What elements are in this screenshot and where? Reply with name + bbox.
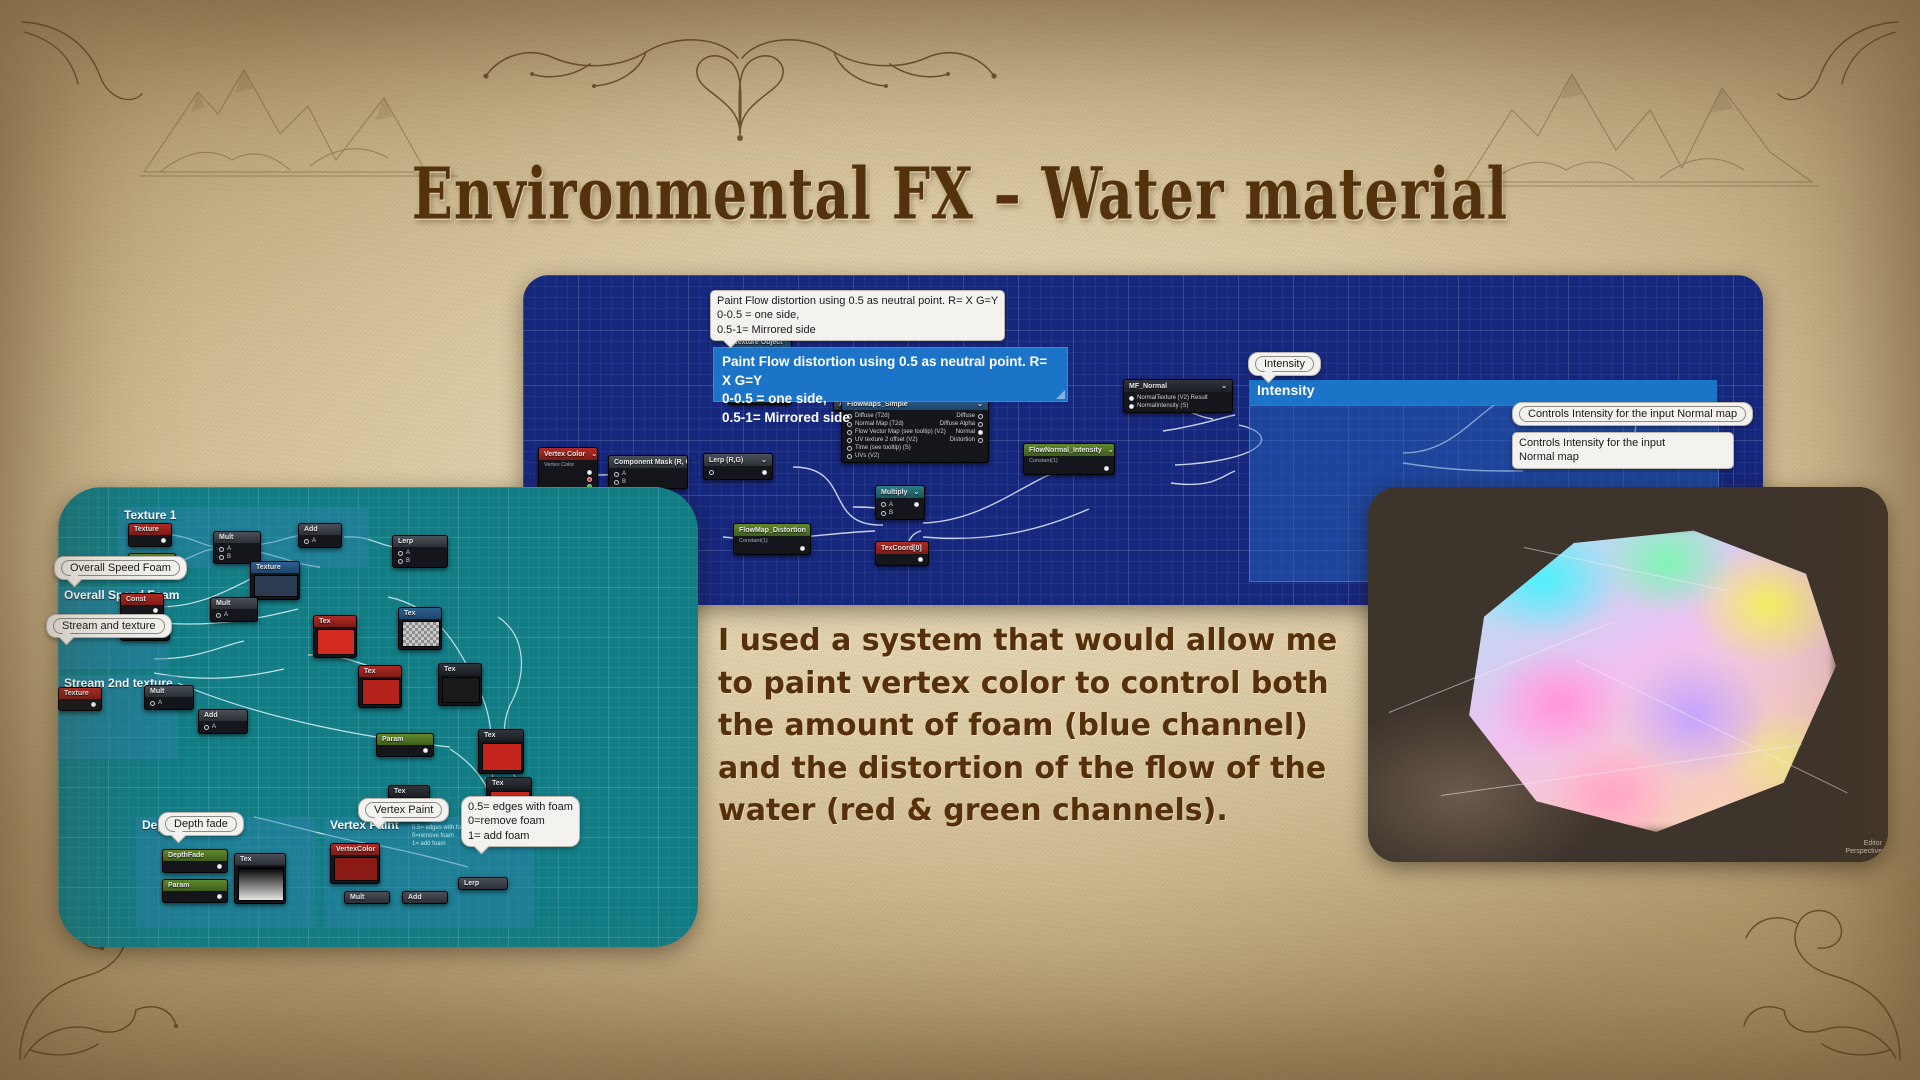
node-header: Mult	[214, 532, 260, 543]
node-pin-a[interactable]: A	[612, 470, 684, 478]
node-teal-vp-grey-1[interactable]: Mult	[344, 891, 390, 904]
node-texcoord[interactable]: TexCoord[0]⌄	[875, 541, 929, 566]
node-header: Tex	[359, 666, 401, 677]
node-body	[876, 554, 928, 565]
node-header: Component Mask (R, G)⌄	[609, 456, 687, 468]
node-teal-grey-4[interactable]: MultA	[210, 597, 258, 622]
node-teal-depth-preview[interactable]: Tex	[234, 853, 286, 904]
node-pin-b[interactable]: B	[879, 509, 921, 517]
node-teal-vertex-color-red[interactable]: VertexColor	[330, 843, 380, 884]
node-header: Texture	[251, 562, 299, 573]
node-header: Add	[199, 710, 247, 721]
node-teal-texture-red-1[interactable]: Texture	[128, 523, 172, 547]
node-lerp-rg[interactable]: Lerp (R,G)⌄	[703, 453, 773, 480]
node-pin-a[interactable]: A	[879, 500, 895, 509]
node-header: Lerp	[459, 878, 507, 889]
node-pin-distortion-out[interactable]: Distortion	[948, 436, 985, 444]
node-header: MF_Normal⌄	[1124, 380, 1232, 392]
node-header: Texture	[129, 524, 171, 535]
node-header: VertexColor	[331, 844, 379, 855]
node-teal-vp-grey-3[interactable]: Lerp	[458, 877, 508, 890]
node-header: Lerp	[393, 536, 447, 547]
node-teal-depth-green-2[interactable]: Param	[162, 879, 228, 903]
node-body: Constant(1)	[734, 536, 810, 554]
node-header: DepthFade	[163, 850, 227, 861]
node-teal-vp-grey-2[interactable]: Add	[402, 891, 448, 904]
node-mf-normal[interactable]: MF_Normal⌄ NormalTexture (V2) Result Nor…	[1123, 379, 1233, 413]
node-teal-grey-3[interactable]: LerpAB	[392, 535, 448, 568]
callout-intensity-pill: Intensity	[1248, 352, 1321, 376]
node-header: Tex	[399, 608, 441, 619]
node-teal-red-3[interactable]: Texture	[58, 687, 102, 711]
resize-handle-icon[interactable]	[1056, 390, 1065, 399]
callout-vertex-paint-values: 0.5= edges with foam 0=remove foam 1= ad…	[461, 796, 580, 847]
node-header: Mult	[145, 686, 193, 697]
node-header: Tex	[389, 786, 429, 797]
node-pin-normal-out[interactable]: Normal	[954, 428, 985, 436]
node-pin-r[interactable]	[542, 476, 594, 483]
node-body: NormalTexture (V2) Result NormalIntensit…	[1124, 392, 1232, 412]
callout-stream-and-texture: Stream and texture	[46, 614, 172, 638]
node-teal-tex-sample-1[interactable]: Texture	[250, 561, 300, 600]
node-multiply[interactable]: Multiply⌄ A B	[875, 485, 925, 520]
callout-depth-fade: Depth fade	[158, 812, 244, 836]
node-header: TexCoord[0]⌄	[876, 542, 928, 554]
node-header: Add	[299, 524, 341, 535]
node-header: Add	[403, 892, 447, 903]
node-pin-b[interactable]: B	[612, 478, 684, 486]
callout-paint-flow-tooltip: Paint Flow distortion using 0.5 as neutr…	[710, 290, 1005, 341]
node-pin-out[interactable]	[879, 556, 925, 563]
callout-overall-speed-foam: Overall Speed Foam	[54, 556, 187, 580]
node-pin-normalintensity[interactable]: NormalIntensity (S)	[1127, 402, 1229, 410]
node-teal-depth-green[interactable]: DepthFade	[162, 849, 228, 873]
node-flowmap-distortion[interactable]: FlowMap_Distortion⌄ Constant(1)	[733, 523, 811, 555]
node-teal-tex-red-3[interactable]: Tex	[478, 729, 524, 774]
node-body: A B	[876, 498, 924, 519]
node-flownormal-intensity[interactable]: FlowNormal_Intensity⌄ Constant(1)	[1023, 443, 1115, 475]
node-teal-grey-2[interactable]: AddA	[298, 523, 342, 548]
node-pin-rgb[interactable]	[542, 469, 594, 476]
node-pin-time-in[interactable]: Time (see tooltip) (S)	[845, 444, 985, 452]
node-body	[704, 466, 772, 479]
node-pin-out[interactable]	[1027, 465, 1111, 472]
node-header: Lerp (R,G)⌄	[704, 454, 772, 466]
node-body: A B	[609, 468, 687, 488]
node-pin-flowvector-in[interactable]: Flow Vector Map (see tooltip) (V2)	[845, 428, 948, 436]
body-paragraph: I used a system that would allow me to p…	[718, 620, 1338, 833]
node-component-mask-rg[interactable]: Component Mask (R, G)⌄ A B	[608, 455, 688, 489]
node-header: Param	[377, 734, 433, 745]
node-pin-uvs-in[interactable]: UVs (V2)	[845, 452, 985, 460]
node-header: Tex	[479, 730, 523, 741]
callout-controls-intensity-pill: Controls Intensity for the input Normal …	[1512, 402, 1753, 426]
node-teal-grey-6[interactable]: AddA	[198, 709, 248, 734]
node-header: Mult	[211, 598, 257, 609]
node-header: Tex	[487, 778, 531, 789]
node-teal-grey-5[interactable]: MultA	[144, 685, 194, 710]
callout-vertex-paint: Vertex Paint	[358, 798, 449, 822]
node-header: FlowMap_Distortion⌄	[734, 524, 810, 536]
node-header: Multiply⌄	[876, 486, 924, 498]
node-teal-tex-dark[interactable]: Tex	[438, 663, 482, 706]
node-header: Tex	[439, 664, 481, 675]
node-pin-uvoffset-in[interactable]: UV texture 2 offset (V2)	[845, 436, 920, 444]
editor-viewport-preview[interactable]: Editor Perspective	[1368, 487, 1888, 862]
node-header: Const	[121, 594, 163, 605]
node-body: Constant(1)	[1024, 456, 1114, 474]
node-pin-normaltexture[interactable]: NormalTexture (V2) Result	[1127, 394, 1229, 402]
node-header: Mult	[345, 892, 389, 903]
node-teal-tex-red-2[interactable]: Tex	[358, 665, 402, 708]
page-title: Environmental FX – Water material	[0, 154, 1920, 237]
node-header: Tex	[314, 616, 356, 627]
comment-region-paint-flow: Paint Flow distortion using 0.5 as neutr…	[713, 347, 1068, 402]
node-header: Param	[163, 880, 227, 891]
node-header: Tex	[235, 854, 285, 865]
callout-controls-intensity-box: Controls Intensity for the input Normal …	[1512, 432, 1734, 469]
node-teal-tex-red-big[interactable]: Tex	[313, 615, 357, 658]
node-teal-grey-1[interactable]: MultAB	[213, 531, 261, 564]
viewport-caption: Editor Perspective	[1845, 840, 1882, 856]
node-pin-out[interactable]	[737, 545, 807, 552]
node-header: FlowNormal_Intensity⌄	[1024, 444, 1114, 456]
node-header: Vertex Color⌄	[539, 448, 597, 460]
node-teal-green-3[interactable]: Param	[376, 733, 434, 757]
node-header: Texture	[59, 688, 101, 699]
node-teal-checker[interactable]: Tex	[398, 607, 442, 650]
